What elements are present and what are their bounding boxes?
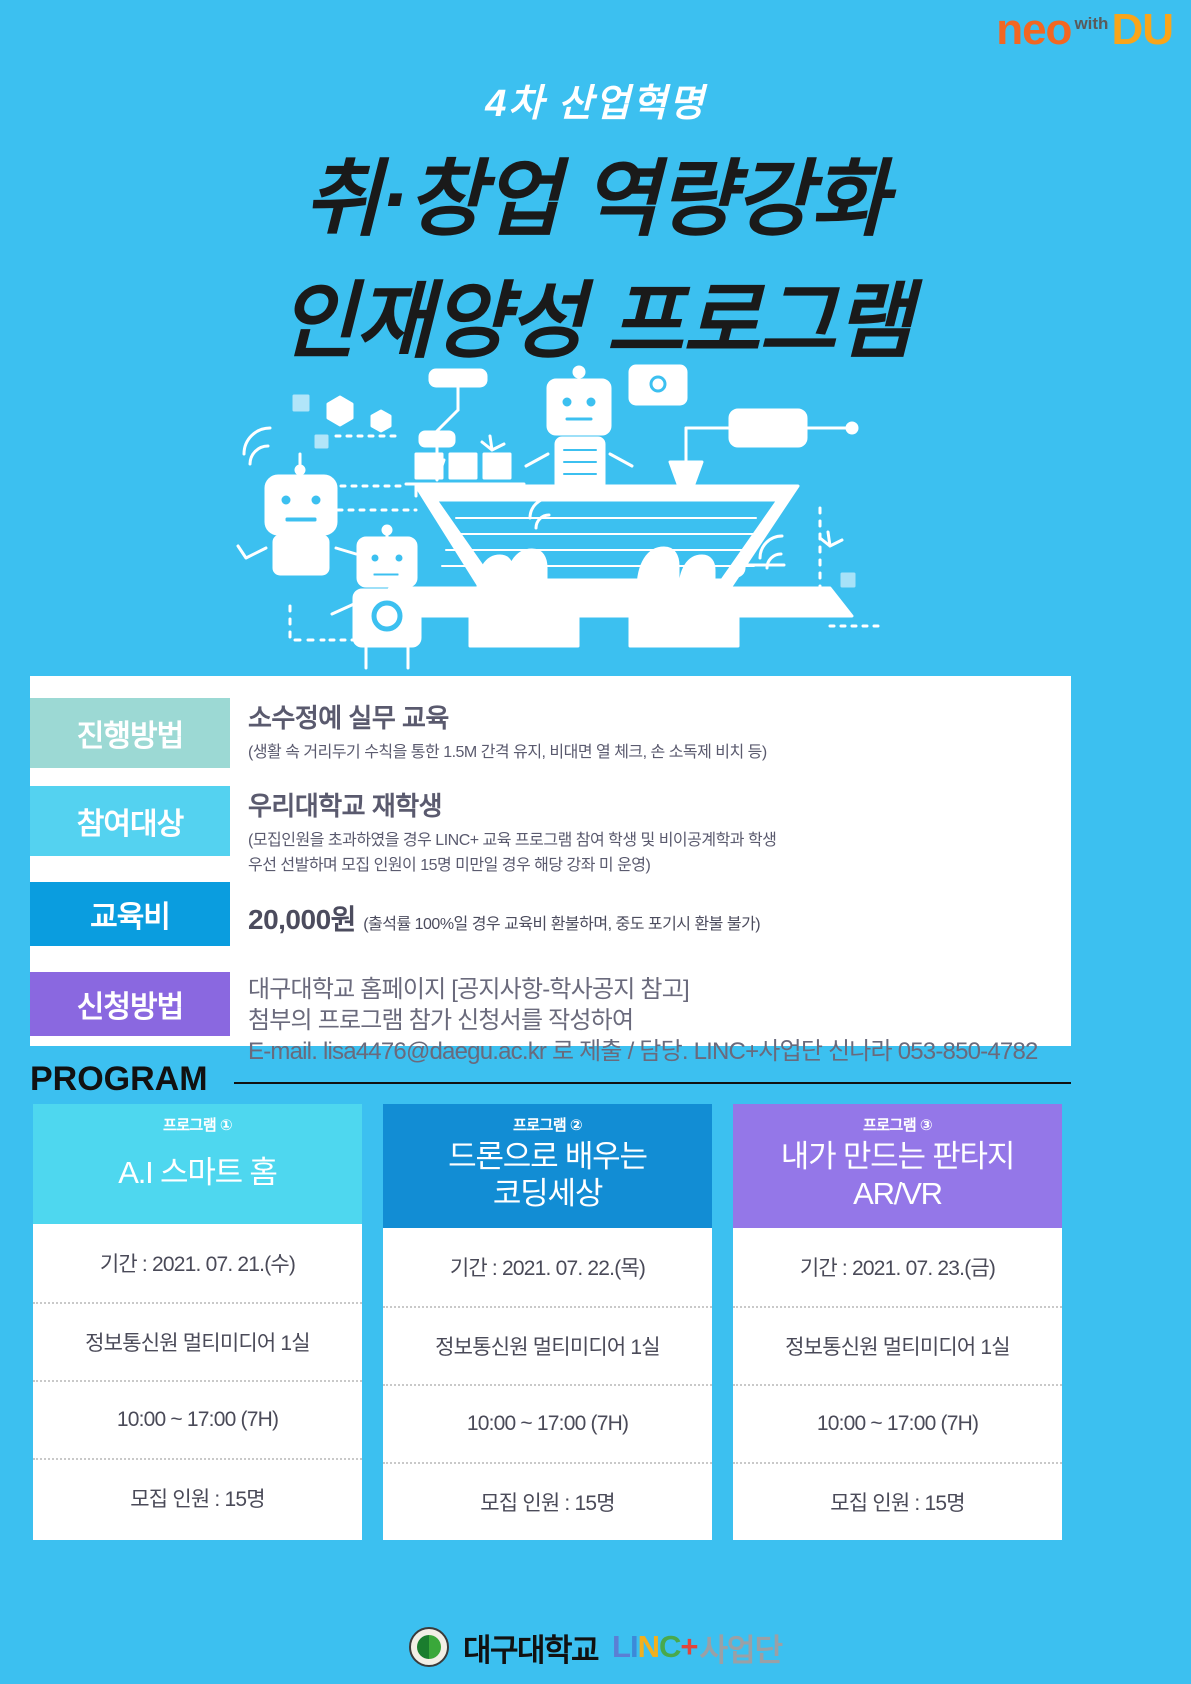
info-head-method: 소수정예 실무 교육 [248,698,767,735]
program-card-2-body: 기간 : 2021. 07. 22.(목) 정보통신원 멀티미디어 1실 10:… [383,1228,712,1540]
linc-letter-plus: + [680,1629,697,1665]
program-card-2-time: 10:00 ~ 17:00 (7H) [383,1384,712,1462]
program-card-1-time: 10:00 ~ 17:00 (7H) [33,1380,362,1458]
info-row-method: 진행방법 소수정예 실무 교육 (생활 속 거리두기 수칙을 통한 1.5M 간… [30,698,767,768]
info-tag-method: 진행방법 [30,698,230,768]
info-fee-note: (출석률 100%일 경우 교육비 환불하며, 중도 포기시 환불 불가) [363,916,760,933]
info-row-audience: 참여대상 우리대학교 재학생 (모집인원을 초과하였을 경우 LINC+ 교육 … [30,786,776,879]
info-tag-fee: 교육비 [30,882,230,946]
info-head-audience: 우리대학교 재학생 [248,786,776,823]
poster-title-line1: 취·창업 역량강화 [0,132,1191,253]
info-apply-line-1: 대구대학교 홈페이지 [공지사항-학사공지 참고] [248,974,1038,1005]
info-tag-audience: 참여대상 [30,786,230,856]
info-tag-apply: 신청방법 [30,972,230,1036]
info-sub-audience-2: 우선 선발하며 모집 인원이 15명 미만일 경우 해당 강좌 미 운영) [248,854,776,879]
info-apply-line-2: 첨부의 프로그램 참가 신청서를 작성하여 [248,1005,1038,1036]
info-panel: 진행방법 소수정예 실무 교육 (생활 속 거리두기 수칙을 통한 1.5M 간… [30,676,1071,1046]
neo-logo-text: neo [996,8,1071,52]
program-card-1[interactable]: 프로그램 ① A.I 스마트 홈 기간 : 2021. 07. 21.(수) 정… [33,1104,362,1540]
poster-title-line2: 인재양성 프로그램 [0,254,1191,375]
linc-letter-l: L [612,1629,630,1665]
program-card-3-capacity: 모집 인원 : 15명 [733,1462,1062,1540]
linc-plus-logo: LINC+사업단 [612,1625,782,1670]
program-card-2-header: 프로그램 ② 드론으로 배우는 코딩세상 [383,1104,712,1228]
program-section-header: PROGRAM [30,1060,1071,1099]
program-card-3-body: 기간 : 2021. 07. 23.(금) 정보통신원 멀티미디어 1실 10:… [733,1228,1062,1540]
program-card-1-title: A.I 스마트 홈 [39,1139,356,1208]
footer-university-name: 대구대학교 [463,1625,598,1670]
du-logo-text: DU [1111,8,1173,52]
program-card-1-body: 기간 : 2021. 07. 21.(수) 정보통신원 멀티미디어 1실 10:… [33,1224,362,1536]
program-card-1-capacity: 모집 인원 : 15명 [33,1458,362,1536]
program-card-3-period: 기간 : 2021. 07. 23.(금) [733,1228,1062,1306]
linc-suffix-label: 사업단 [700,1625,783,1670]
program-card-2-place: 정보통신원 멀티미디어 1실 [383,1306,712,1384]
program-card-3-title: 내가 만드는 판타지 AR/VR [739,1139,1056,1212]
program-card-3-place: 정보통신원 멀티미디어 1실 [733,1306,1062,1384]
info-sub-audience-1: (모집인원을 초과하였을 경우 LINC+ 교육 프로그램 참여 학생 및 비이… [248,829,776,854]
with-logo-text: with [1074,15,1108,32]
program-card-2-capacity: 모집 인원 : 15명 [383,1462,712,1540]
poster-footer: 대구대학교 LINC+사업단 [0,1610,1191,1684]
program-card-1-header: 프로그램 ① A.I 스마트 홈 [33,1104,362,1224]
program-card-3-time: 10:00 ~ 17:00 (7H) [733,1384,1062,1462]
program-card-3[interactable]: 프로그램 ③ 내가 만드는 판타지 AR/VR 기간 : 2021. 07. 2… [733,1104,1062,1540]
seal-inner-emblem [417,1635,441,1659]
info-sub-method: (생활 속 거리두기 수칙을 통한 1.5M 간격 유지, 비대면 열 체크, … [248,741,767,766]
info-fee-amount: 20,000원 [248,904,356,935]
info-row-fee: 교육비 20,000원 (출석률 100%일 경우 교육비 환불하며, 중도 포… [30,882,760,946]
program-card-1-place: 정보통신원 멀티미디어 1실 [33,1302,362,1380]
info-row-apply: 신청방법 대구대학교 홈페이지 [공지사항-학사공지 참고] 첨부의 프로그램 … [30,972,1038,1068]
program-section-divider [234,1082,1071,1084]
poster-root: neo with DU 4차 산업혁명 취·창업 역량강화 인재양성 프로그램 [0,0,1191,1684]
program-card-1-number: 프로그램 ① [39,1114,356,1135]
program-card-1-period: 기간 : 2021. 07. 21.(수) [33,1224,362,1302]
program-card-2-period: 기간 : 2021. 07. 22.(목) [383,1228,712,1306]
program-card-2[interactable]: 프로그램 ② 드론으로 배우는 코딩세상 기간 : 2021. 07. 22.(… [383,1104,712,1540]
program-card-3-header: 프로그램 ③ 내가 만드는 판타지 AR/VR [733,1104,1062,1228]
linc-letter-c: C [659,1629,680,1665]
industry-4-illustration [230,358,970,678]
poster-kicker: 4차 산업혁명 [0,72,1191,127]
program-card-list: 프로그램 ① A.I 스마트 홈 기간 : 2021. 07. 21.(수) 정… [33,1104,1063,1540]
program-card-2-number: 프로그램 ② [389,1114,706,1135]
neo-with-du-logo: neo with DU [996,8,1173,52]
program-card-3-number: 프로그램 ③ [739,1114,1056,1135]
linc-letter-i: I [630,1629,638,1665]
daegu-university-seal-icon [409,1627,449,1667]
program-card-2-title: 드론으로 배우는 코딩세상 [389,1139,706,1212]
linc-letter-n: N [638,1629,659,1665]
program-section-label: PROGRAM [30,1060,208,1099]
